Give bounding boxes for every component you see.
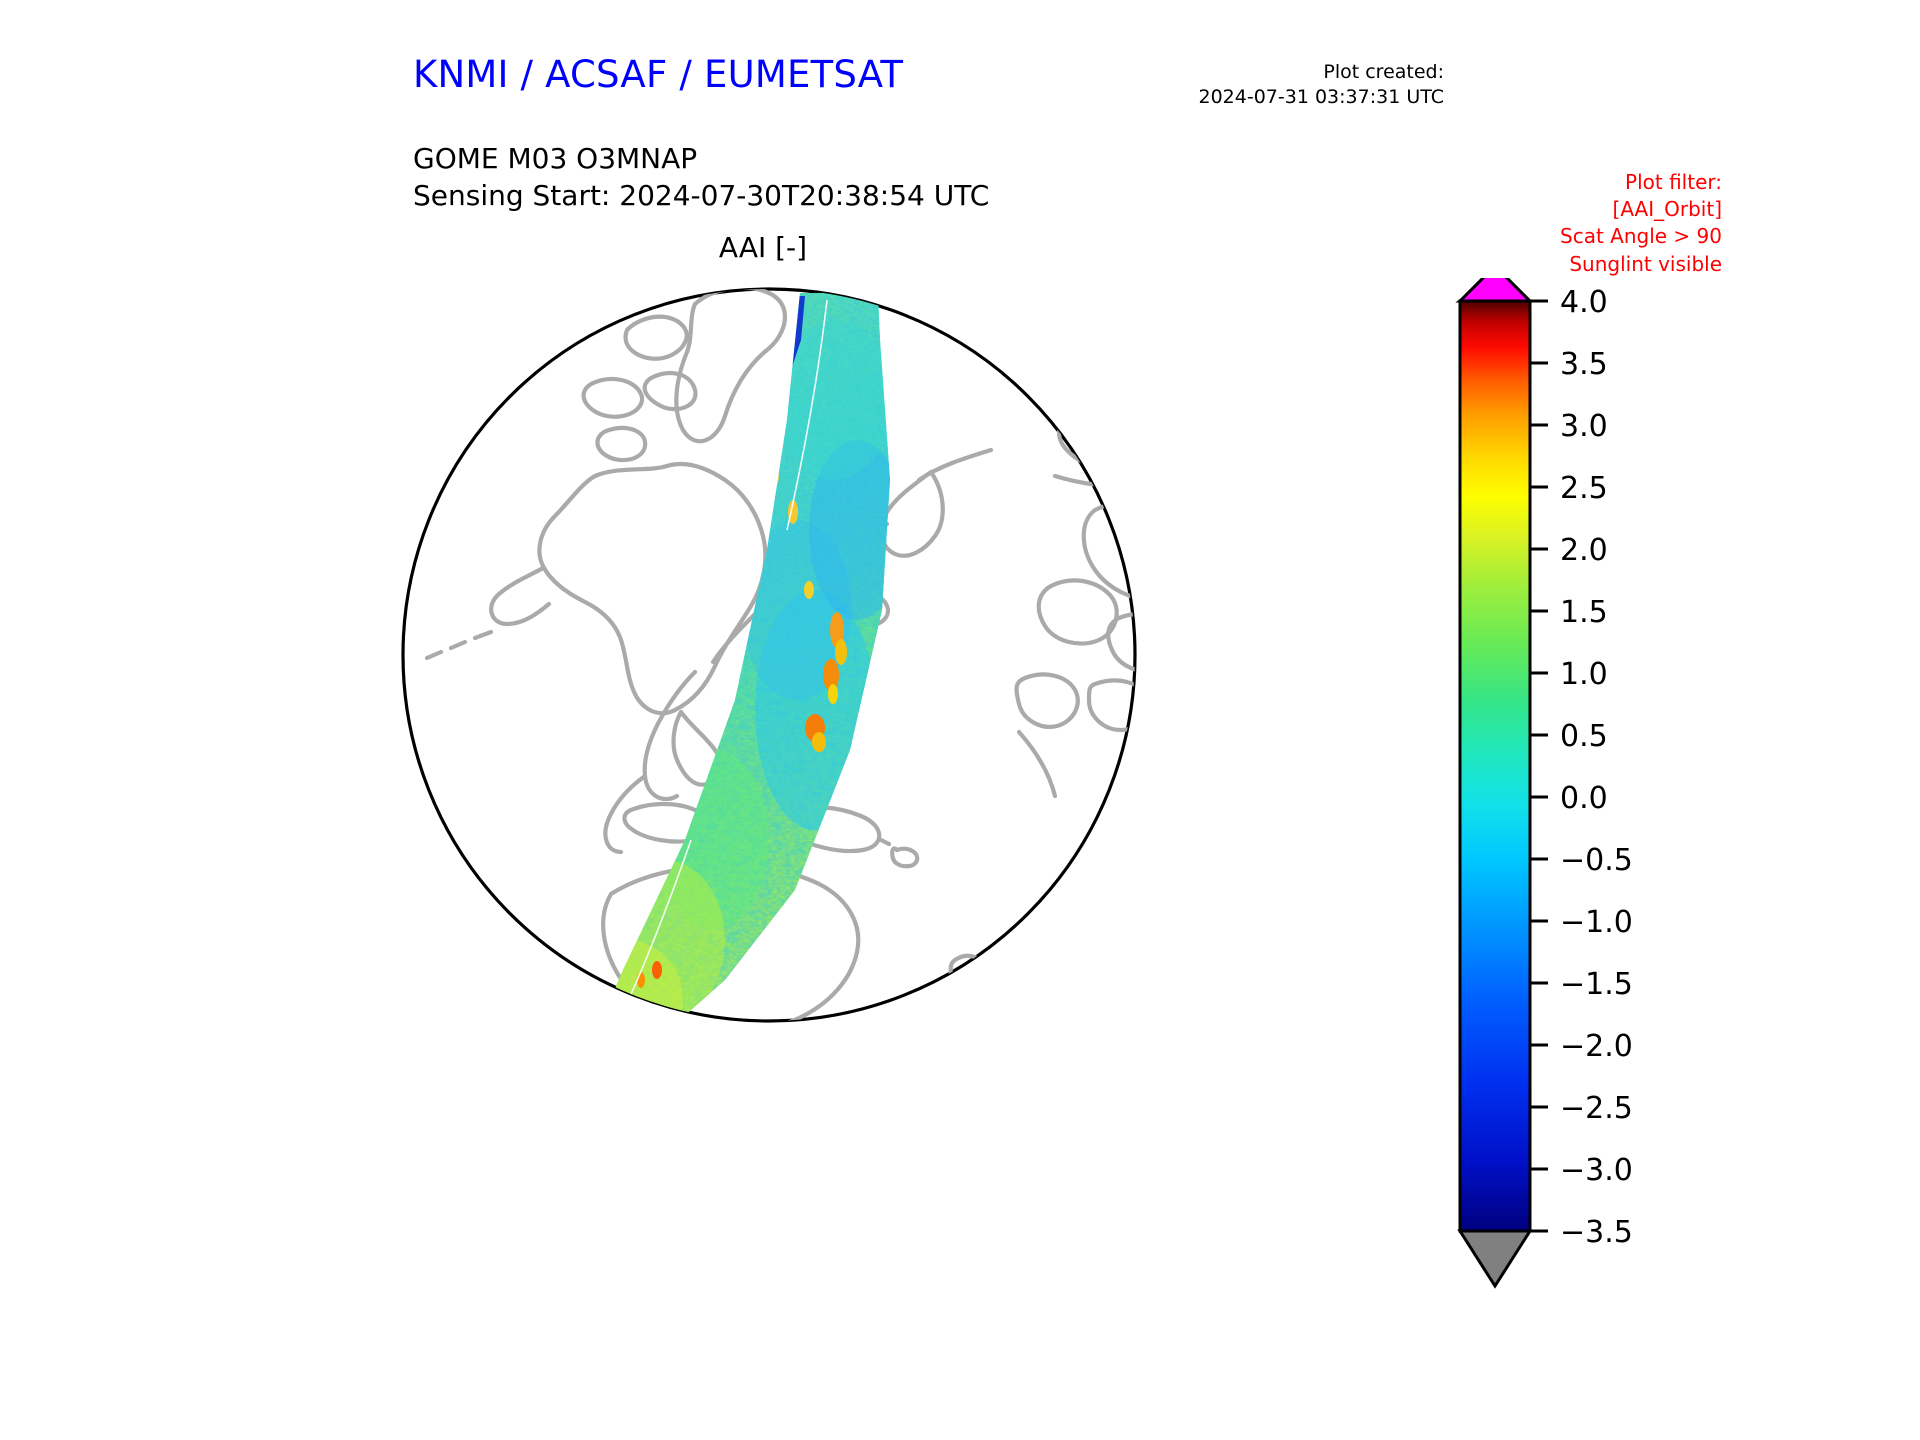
sensing-start: Sensing Start: 2024-07-30T20:38:54 UTC [413,177,989,214]
plot-filter-condition: Scat Angle > 90 [1560,223,1722,250]
plot-filter-label: Plot filter: [1560,169,1722,196]
plot-filter-name: [AAI_Orbit] [1560,196,1722,223]
colorbar-over-arrow-cap [1460,278,1530,301]
colorbar-tick-label: 1.5 [1560,595,1608,630]
colorbar-svg: 4.03.53.02.52.01.51.00.50.0−0.5−1.0−1.5−… [1440,278,1670,1308]
swath-strips [583,1014,677,1040]
colorbar-tick-label: 2.5 [1560,471,1608,506]
plot-created-timestamp: 2024-07-31 03:37:31 UTC [1199,85,1445,110]
colorbar-tick-label: 2.0 [1560,533,1608,568]
globe-map [395,280,1155,1040]
colorbar-tick-label: −3.5 [1560,1215,1633,1250]
plot-filter-block: Plot filter: [AAI_Orbit] Scat Angle > 90… [1560,169,1722,278]
globe-svg [395,280,1155,1040]
organisation-title: KNMI / ACSAF / EUMETSAT [413,53,903,96]
colorbar-tick-label: −1.0 [1560,905,1633,940]
plot-canvas: KNMI / ACSAF / EUMETSAT Plot created: 20… [0,0,1920,1440]
colorbar-tick-label: 3.0 [1560,409,1608,444]
quantity-title: AAI [-] [413,231,1113,264]
colorbar-tick-label: −3.0 [1560,1153,1633,1188]
colorbar-ticks: 4.03.53.02.52.01.51.00.50.0−0.5−1.0−1.5−… [1530,285,1633,1250]
colorbar: 4.03.53.02.52.01.51.00.50.0−0.5−1.0−1.5−… [1440,278,1670,1308]
colorbar-tick-label: −2.0 [1560,1029,1633,1064]
colorbar-tick-label: 1.0 [1560,657,1608,692]
colorbar-tick-label: −1.5 [1560,967,1633,1002]
colorbar-tick-label: 0.5 [1560,719,1608,754]
dataset-block: GOME M03 O3MNAP Sensing Start: 2024-07-3… [413,140,989,214]
dataset-name: GOME M03 O3MNAP [413,140,989,177]
colorbar-tick-label: −2.5 [1560,1091,1633,1126]
plot-created-block: Plot created: 2024-07-31 03:37:31 UTC [1199,60,1445,110]
colorbar-gradient-bar [1460,301,1530,1231]
colorbar-tick-label: 4.0 [1560,285,1608,320]
plot-filter-note: Sunglint visible [1560,251,1722,278]
colorbar-tick-label: 3.5 [1560,347,1608,382]
colorbar-tick-label: −0.5 [1560,843,1633,878]
colorbar-tick-label: 0.0 [1560,781,1608,816]
plot-created-label: Plot created: [1199,60,1445,85]
colorbar-under-arrow [1460,1231,1530,1286]
